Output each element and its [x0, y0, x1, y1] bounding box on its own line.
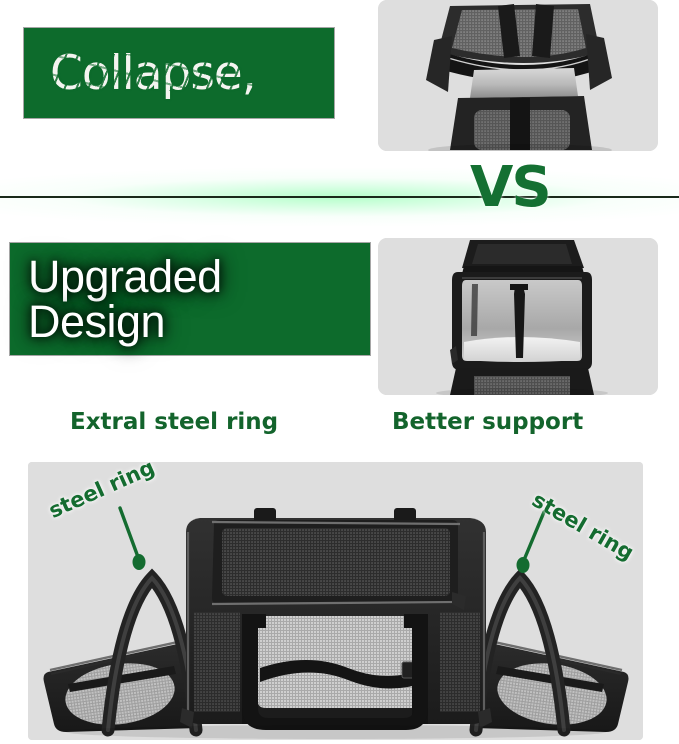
- collapsed-carrier-illustration: [378, 0, 658, 151]
- caption-better-support: Better support: [392, 409, 583, 435]
- collapse-banner: Collapse,: [24, 28, 334, 118]
- collapse-banner-label: Collapse,: [50, 50, 256, 97]
- steel-ring-pointer-left: [120, 508, 146, 570]
- supported-carrier-illustration: [378, 238, 658, 395]
- comparison-divider: [0, 168, 679, 226]
- supported-pet-carrier-photo: [378, 238, 658, 395]
- caption-extral-steel-ring: Extral steel ring: [70, 409, 278, 435]
- upgraded-design-banner: Upgraded Design: [10, 243, 370, 355]
- upgraded-design-banner-label: Upgraded Design: [28, 254, 370, 344]
- steel-ring-pointer-right: [517, 512, 545, 573]
- versus-label: VS: [470, 160, 550, 216]
- divider-line: [0, 196, 679, 198]
- collapsed-pet-carrier-photo: [378, 0, 658, 151]
